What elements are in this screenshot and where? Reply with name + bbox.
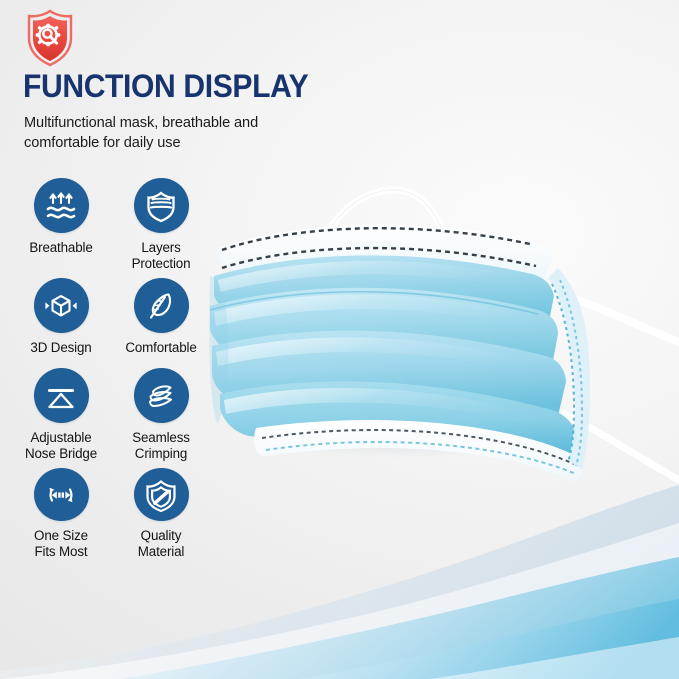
nose-bridge-icon bbox=[34, 368, 89, 423]
brand-logo bbox=[17, 8, 83, 68]
feature-quality-material[interactable]: Quality Material bbox=[114, 468, 208, 558]
feature-label: Quality Material bbox=[138, 528, 184, 558]
cube-3d-icon bbox=[34, 278, 89, 333]
stacked-sheets-icon bbox=[134, 368, 189, 423]
feature-3d-design[interactable]: 3D Design bbox=[14, 278, 108, 362]
feature-row: One Size Fits Most Quality Material bbox=[14, 468, 214, 564]
feature-adjustable-nose-bridge[interactable]: Adjustable Nose Bridge bbox=[14, 368, 108, 462]
feature-seamless-crimping[interactable]: Seamless Crimping bbox=[114, 368, 208, 462]
feature-label: Layers Protection bbox=[132, 240, 191, 271]
layered-shield-icon bbox=[134, 178, 189, 233]
face-mask-illustration bbox=[196, 128, 679, 548]
feature-row: 3D Design Comfortable bbox=[14, 278, 214, 368]
feature-grid: Breathable Layers Protection bbox=[14, 178, 214, 564]
feature-breathable[interactable]: Breathable bbox=[14, 178, 108, 272]
feature-label: Comfortable bbox=[125, 340, 196, 356]
feature-comfortable[interactable]: Comfortable bbox=[114, 278, 208, 362]
feature-label: Seamless Crimping bbox=[132, 430, 190, 461]
quality-shield-icon bbox=[134, 468, 189, 521]
feature-row: Adjustable Nose Bridge Seamless Crimping bbox=[14, 368, 214, 468]
feature-label: Breathable bbox=[29, 240, 92, 256]
feature-label: 3D Design bbox=[30, 340, 91, 356]
product-image bbox=[196, 128, 679, 548]
feature-row: Breathable Layers Protection bbox=[14, 178, 214, 278]
feather-icon bbox=[134, 278, 189, 333]
feature-label: Adjustable Nose Bridge bbox=[25, 430, 97, 461]
airflow-waves-icon bbox=[34, 178, 89, 233]
page-title: FUNCTION DISPLAY bbox=[23, 69, 308, 103]
feature-label: One Size Fits Most bbox=[34, 528, 88, 558]
feature-one-size-fits-most[interactable]: One Size Fits Most bbox=[14, 468, 108, 558]
red-shield-gear-icon bbox=[17, 8, 83, 68]
infographic-page: FUNCTION DISPLAY Multifunctional mask, b… bbox=[0, 0, 679, 679]
resize-arrows-icon bbox=[34, 468, 89, 521]
feature-layers-protection[interactable]: Layers Protection bbox=[114, 178, 208, 272]
